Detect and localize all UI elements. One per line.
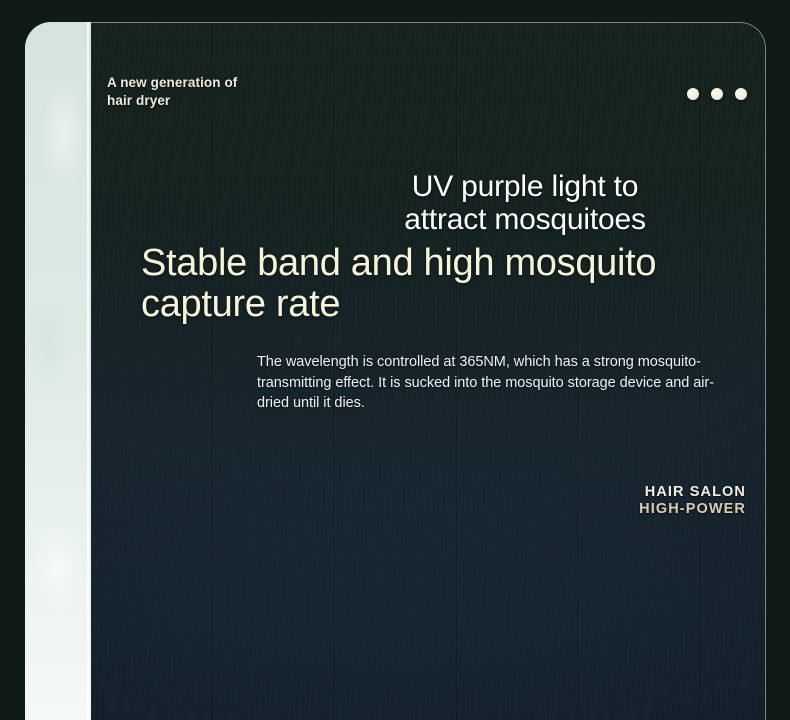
brand-line-hair-salon: HAIR SALON xyxy=(639,484,746,501)
product-banner-stage: A new generation of hair dryer UV purple… xyxy=(0,0,790,720)
indicator-dot-1[interactable] xyxy=(687,88,699,100)
indicator-dot-2[interactable] xyxy=(711,88,723,100)
brand-line-high-power: HIGH-POWER xyxy=(639,501,746,518)
indicator-dot-3[interactable] xyxy=(735,88,747,100)
strip-edge-line xyxy=(87,22,89,720)
sub-headline: UV purple light to attract mosquitoes xyxy=(330,170,720,236)
strip-highlight xyxy=(25,22,91,720)
body-paragraph: The wavelength is controlled at 365NM, w… xyxy=(257,352,742,414)
left-pale-strip xyxy=(25,22,91,720)
main-headline: Stable band and high mosquito capture ra… xyxy=(141,243,741,325)
kicker-text: A new generation of hair dryer xyxy=(107,74,237,110)
brand-lockup: HAIR SALON HIGH-POWER xyxy=(639,484,746,518)
indicator-dots[interactable] xyxy=(687,88,747,100)
